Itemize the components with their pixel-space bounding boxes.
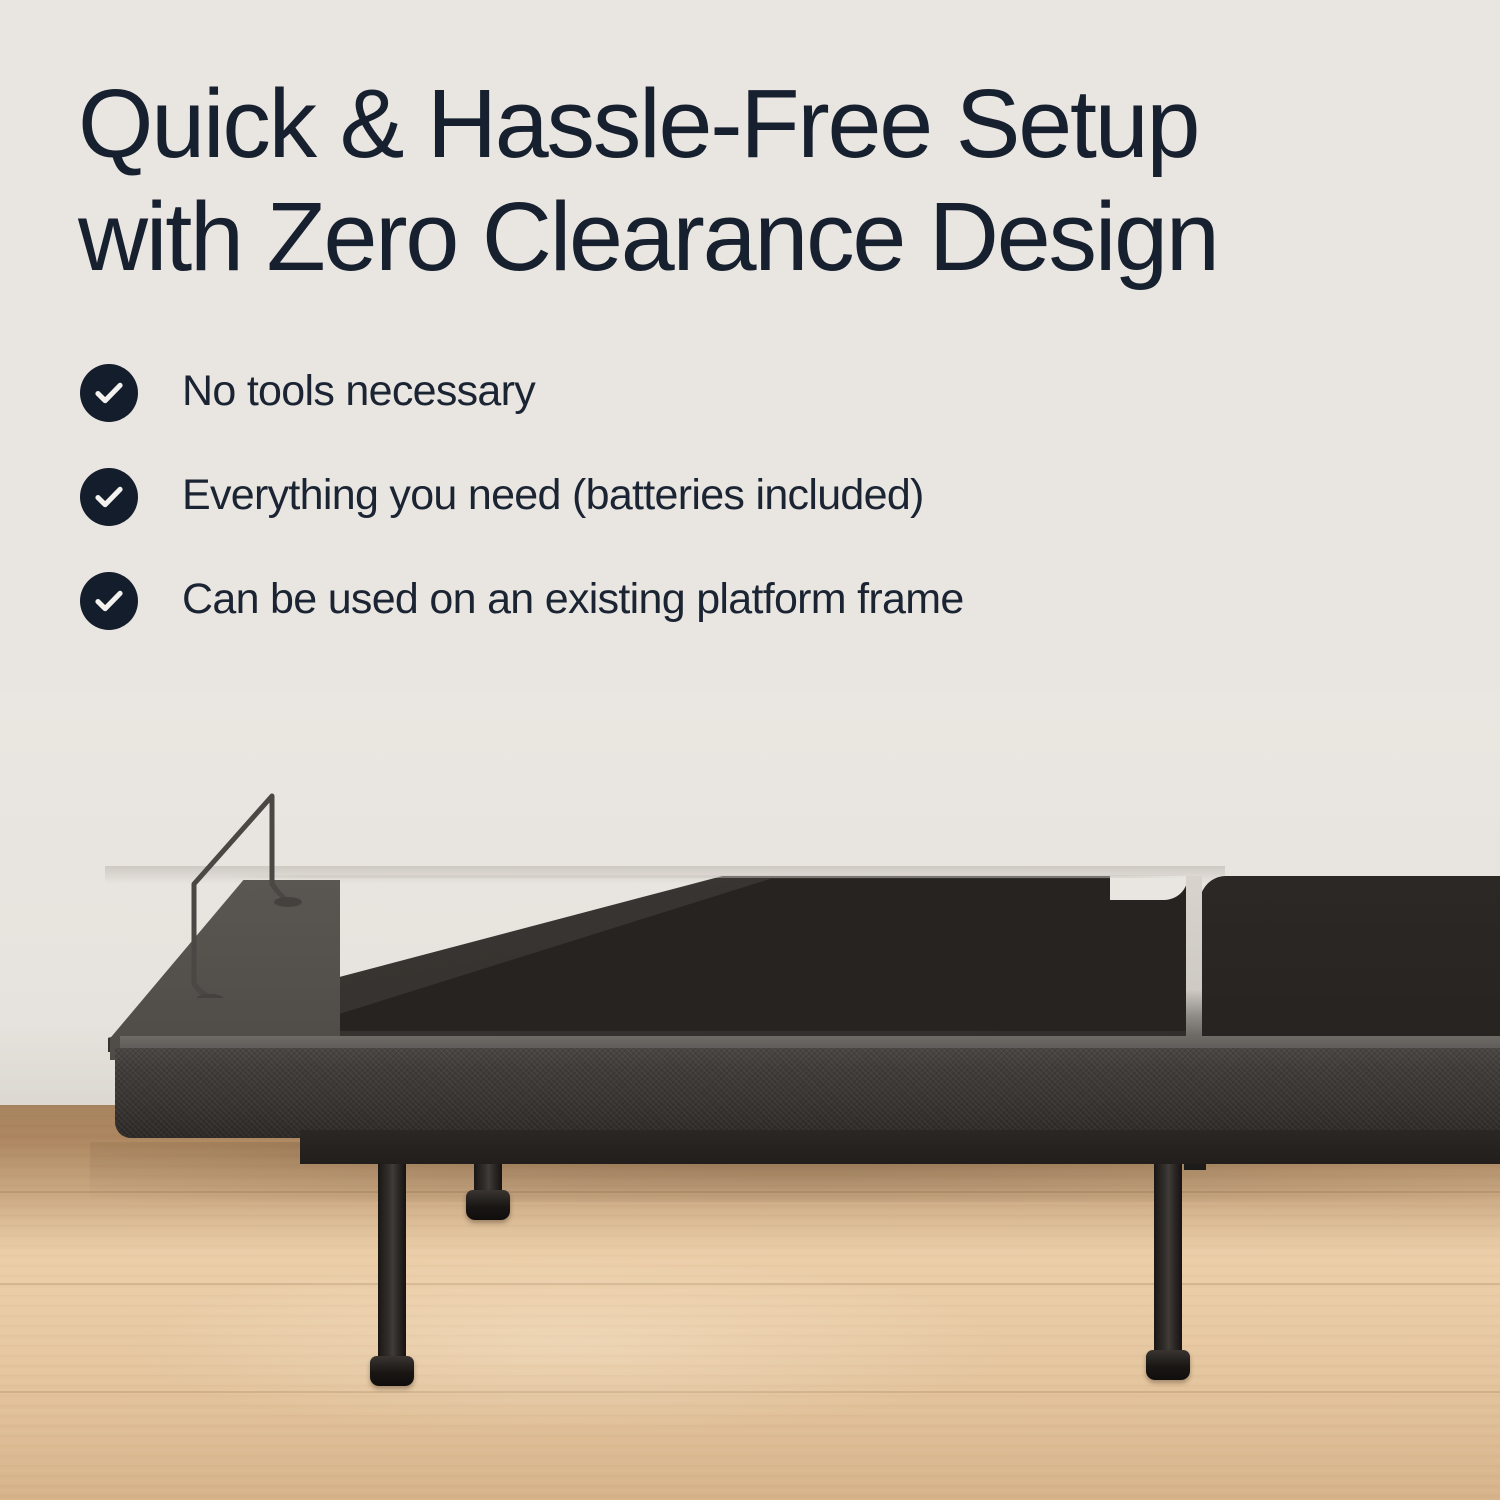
- mattress-retainer-bar: [160, 788, 390, 998]
- bed-upholstered-skirt: [115, 1048, 1500, 1138]
- bed-leg: [378, 1152, 406, 1370]
- list-item-label: Can be used on an existing platform fram…: [182, 568, 964, 630]
- list-item: Can be used on an existing platform fram…: [80, 568, 1280, 672]
- list-item-label: Everything you need (batteries included): [182, 464, 924, 526]
- check-circle-icon: [80, 364, 138, 422]
- product-feature-card: Quick & Hassle-Free Setup with Zero Clea…: [0, 0, 1500, 1500]
- list-item: No tools necessary: [80, 360, 1280, 464]
- bed-metal-frame-rail: [300, 1130, 1500, 1164]
- bed-leg: [1154, 1152, 1182, 1364]
- bed-deck-corner-cut: [1110, 876, 1188, 900]
- check-circle-icon: [80, 572, 138, 630]
- fabric-weave-texture: [115, 1048, 1500, 1138]
- page-title: Quick & Hassle-Free Setup with Zero Clea…: [78, 68, 1388, 293]
- list-item: Everything you need (batteries included): [80, 464, 1280, 568]
- product-photo: [0, 690, 1500, 1500]
- feature-list: No tools necessary Everything you need (…: [80, 360, 1280, 672]
- list-item-label: No tools necessary: [182, 360, 535, 422]
- adjustable-bed-base: [0, 690, 1500, 1500]
- bed-deck-foot-section: [1200, 876, 1500, 1052]
- check-circle-icon: [80, 468, 138, 526]
- bed-leg-foot: [466, 1190, 510, 1220]
- bed-leg-foot: [1146, 1350, 1190, 1380]
- bed-leg-foot: [370, 1356, 414, 1386]
